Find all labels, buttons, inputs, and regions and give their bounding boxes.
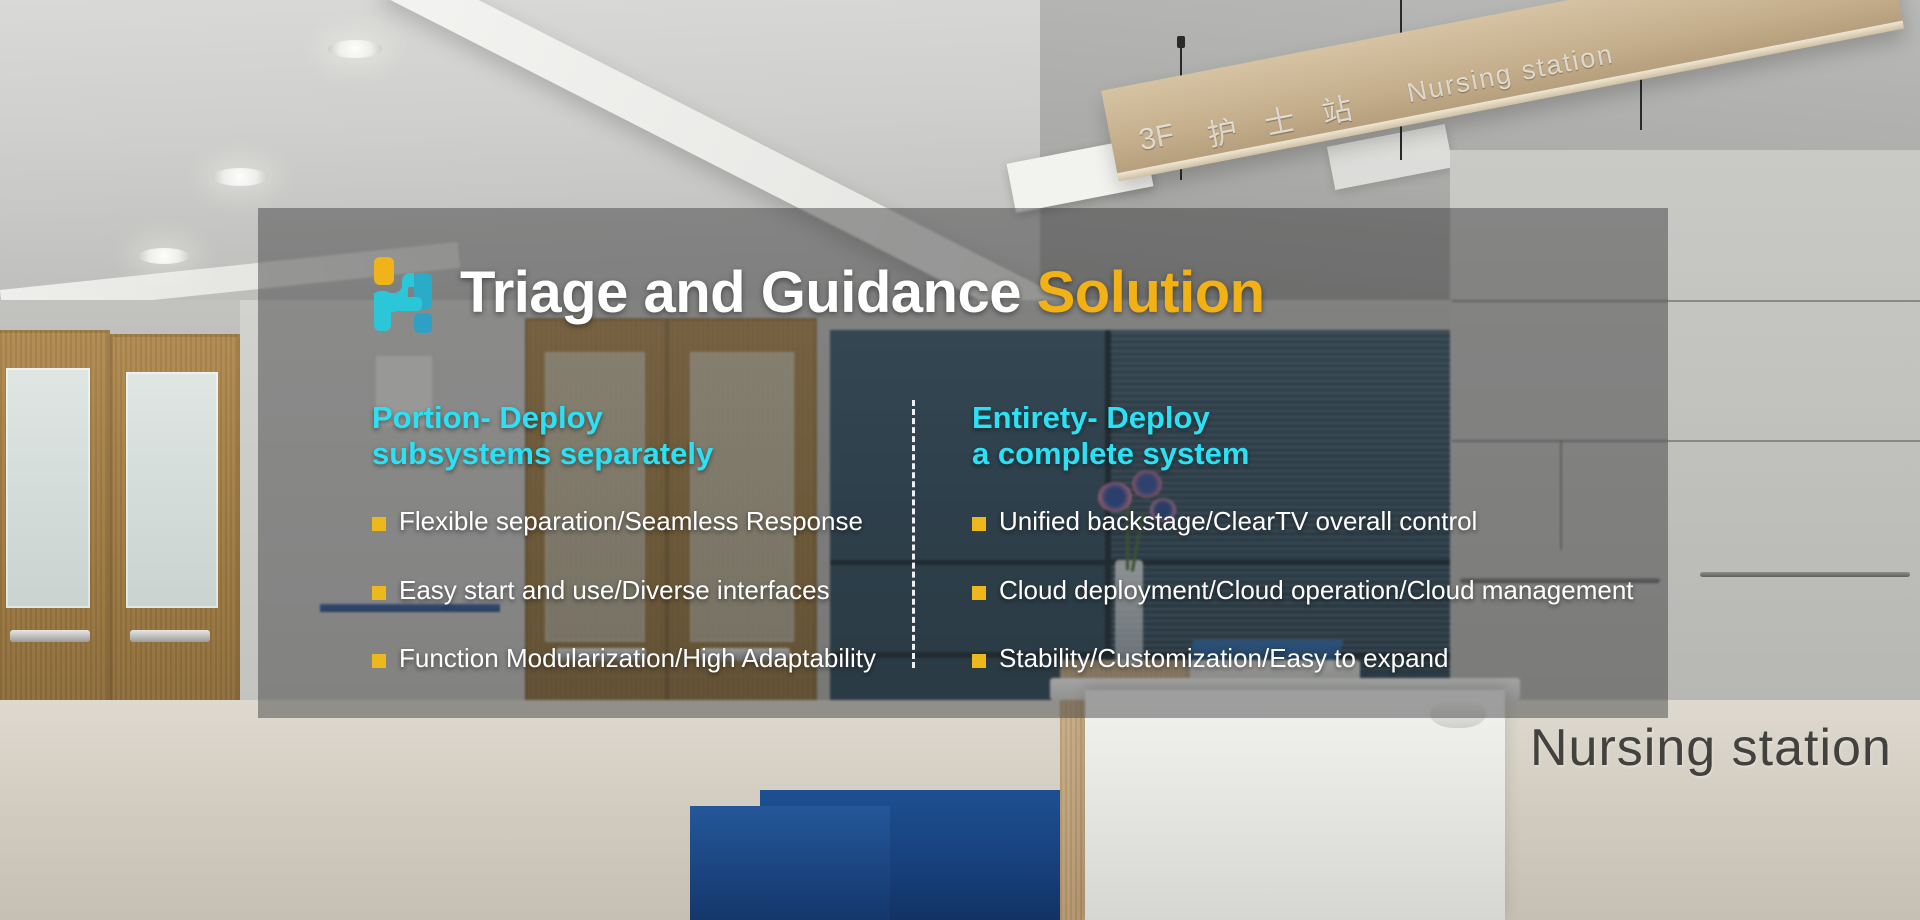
bullet-square-icon: [972, 654, 986, 668]
door-handle: [130, 630, 210, 642]
bullet-square-icon: [372, 517, 386, 531]
list-item: Easy start and use/Diverse interfaces: [372, 575, 892, 606]
bullet-list: Flexible separation/Seamless Response Ea…: [372, 506, 892, 674]
desk-wall-sign: Nursing station: [1530, 718, 1892, 778]
sign-floor-label: 3F: [1136, 118, 1177, 158]
column-heading-line1: Portion- Deploy: [372, 400, 892, 436]
list-item-label: Unified backstage/ClearTV overall contro…: [999, 506, 1477, 537]
page-title-main: Triage and Guidance: [460, 260, 1037, 325]
column-heading-line2: subsystems separately: [372, 436, 892, 472]
door-handle: [10, 630, 90, 642]
column-portion: Portion- Deploy subsystems separately Fl…: [372, 400, 892, 712]
door-glass-panel: [6, 368, 90, 608]
bullet-square-icon: [972, 586, 986, 600]
column-heading: Entirety- Deploy a complete system: [972, 400, 1632, 472]
ceiling-downlight: [212, 168, 268, 186]
list-item: Unified backstage/ClearTV overall contro…: [972, 506, 1632, 537]
sign-wire-cap: [1177, 36, 1185, 48]
column-heading-line2: a complete system: [972, 436, 1632, 472]
page-title: Triage and Guidance Solution: [460, 264, 1265, 322]
cabinet-handle-rail: [1700, 572, 1910, 577]
bullet-square-icon: [972, 517, 986, 531]
list-item-label: Cloud deployment/Cloud operation/Cloud m…: [999, 575, 1634, 606]
bullet-square-icon: [372, 654, 386, 668]
list-item-label: Stability/Customization/Easy to expand: [999, 643, 1448, 674]
bullet-square-icon: [372, 586, 386, 600]
column-heading: Portion- Deploy subsystems separately: [372, 400, 892, 472]
page-title-accent: Solution: [1037, 260, 1265, 325]
sign-board-edge: [1117, 21, 1904, 182]
door-glass-panel: [126, 372, 218, 608]
list-item: Cloud deployment/Cloud operation/Cloud m…: [972, 575, 1632, 606]
blue-carpet-edge: [690, 806, 890, 920]
column-entirety: Entirety- Deploy a complete system Unifi…: [972, 400, 1632, 712]
list-item: Function Modularization/High Adaptabilit…: [372, 643, 892, 674]
h-monogram-logo-icon: [372, 253, 436, 333]
column-divider: [912, 400, 915, 668]
list-item-label: Easy start and use/Diverse interfaces: [399, 575, 830, 606]
column-heading-line1: Entirety- Deploy: [972, 400, 1632, 436]
list-item-label: Function Modularization/High Adaptabilit…: [399, 643, 876, 674]
list-item: Flexible separation/Seamless Response: [372, 506, 892, 537]
ceiling-downlight: [328, 40, 382, 58]
slide-header: Triage and Guidance Solution: [372, 253, 1265, 333]
bullet-list: Unified backstage/ClearTV overall contro…: [972, 506, 1632, 674]
list-item: Stability/Customization/Easy to expand: [972, 643, 1632, 674]
ceiling-downlight: [138, 248, 190, 264]
list-item-label: Flexible separation/Seamless Response: [399, 506, 863, 537]
slide-canvas: 3F 护 士 站 Nursing station Nursing station: [0, 0, 1920, 920]
